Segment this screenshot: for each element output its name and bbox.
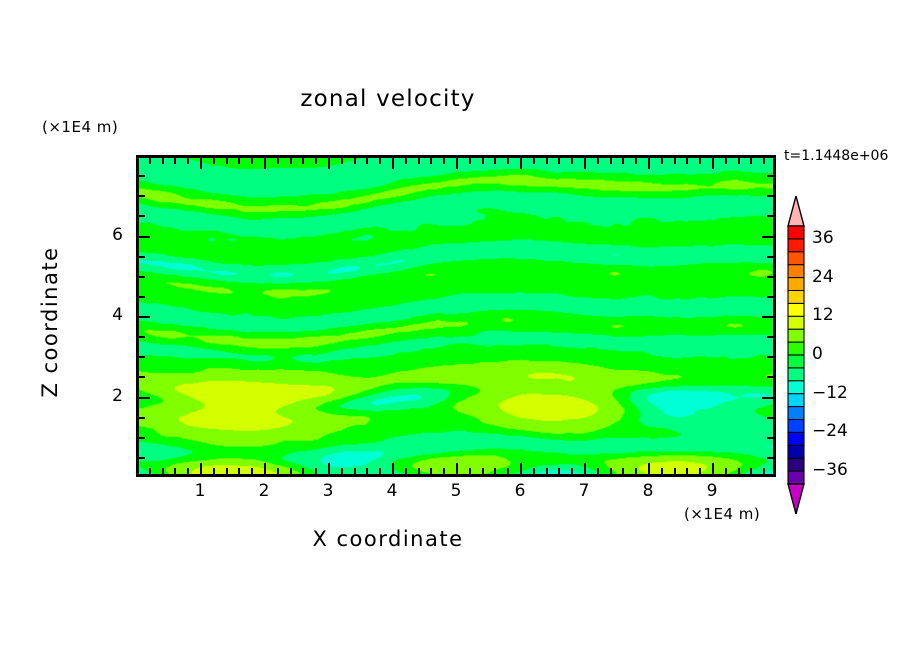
x-axis-minor-tick (379, 468, 381, 474)
colorbar-tick-label: 0 (812, 344, 823, 364)
x-axis-minor-tick (763, 158, 765, 164)
x-axis-minor-tick (149, 468, 151, 474)
x-axis-minor-tick (699, 468, 701, 474)
x-axis-major-tick (648, 158, 650, 169)
y-axis-major-tick (139, 397, 150, 399)
x-axis-minor-tick (763, 468, 765, 474)
x-axis-minor-tick (571, 158, 573, 164)
x-axis-minor-tick (405, 468, 407, 474)
colorbar-swatch (788, 316, 804, 329)
colorbar-swatch (788, 420, 804, 433)
y-axis-minor-tick (139, 356, 145, 358)
x-axis-minor-tick (238, 468, 240, 474)
x-axis-major-tick (456, 158, 458, 169)
colorbar-swatch (788, 265, 804, 278)
y-axis-major-tick (762, 397, 773, 399)
x-axis-minor-tick (226, 158, 228, 164)
contour-field (139, 158, 773, 474)
x-axis-minor-tick (482, 468, 484, 474)
colorbar-swatch (788, 432, 804, 445)
y-axis-major-tick (139, 236, 150, 238)
colorbar-tick-label: 12 (812, 305, 834, 325)
x-axis-minor-tick (725, 158, 727, 164)
x-axis-minor-tick (507, 158, 509, 164)
x-axis-minor-tick (290, 468, 292, 474)
x-axis-minor-tick (341, 158, 343, 164)
x-axis-major-tick (264, 158, 266, 169)
colorbar-swatch (788, 226, 804, 239)
x-axis-minor-tick (635, 158, 637, 164)
colorbar-swatch (788, 342, 804, 355)
y-axis-minor-tick (767, 356, 773, 358)
y-axis-title: Z coordinate (38, 212, 62, 432)
time-annotation: t=1.1448e+06 (784, 148, 888, 164)
x-axis-minor-tick (213, 158, 215, 164)
x-axis-minor-tick (213, 468, 215, 474)
x-axis-minor-tick (622, 468, 624, 474)
x-axis-tick-label: 1 (185, 481, 215, 501)
x-axis-minor-tick (738, 158, 740, 164)
x-axis-minor-tick (546, 158, 548, 164)
y-axis-minor-tick (139, 336, 145, 338)
y-axis-minor-tick (767, 336, 773, 338)
x-axis-minor-tick (610, 158, 612, 164)
x-axis-minor-tick (533, 468, 535, 474)
x-axis-minor-tick (238, 158, 240, 164)
colorbar-tick-label: −24 (812, 421, 848, 441)
x-axis-minor-tick (558, 158, 560, 164)
x-axis-minor-tick (610, 468, 612, 474)
x-axis-minor-tick (725, 468, 727, 474)
x-axis-minor-tick (469, 158, 471, 164)
y-axis-minor-tick (767, 175, 773, 177)
colorbar-swatch (788, 291, 804, 304)
x-axis-minor-tick (354, 158, 356, 164)
x-axis-minor-tick (674, 158, 676, 164)
x-axis-minor-tick (251, 468, 253, 474)
x-axis-major-tick (392, 158, 394, 169)
x-axis-tick-label: 9 (697, 481, 727, 501)
x-axis-minor-tick (674, 468, 676, 474)
x-axis-minor-tick (686, 468, 688, 474)
y-axis-minor-tick (767, 457, 773, 459)
x-axis-minor-tick (277, 468, 279, 474)
x-axis-minor-tick (546, 468, 548, 474)
x-axis-minor-tick (533, 158, 535, 164)
y-axis-minor-tick (139, 457, 145, 459)
x-axis-major-tick (584, 463, 586, 474)
y-axis-tick-label: 6 (93, 225, 123, 245)
x-axis-minor-tick (226, 468, 228, 474)
x-axis-minor-tick (187, 468, 189, 474)
y-axis-minor-tick (139, 215, 145, 217)
x-axis-tick-label: 5 (441, 481, 471, 501)
x-axis-major-tick (200, 463, 202, 474)
x-axis-minor-tick (430, 468, 432, 474)
y-axis-minor-tick (767, 215, 773, 217)
x-axis-minor-tick (290, 158, 292, 164)
x-axis-minor-tick (302, 158, 304, 164)
y-axis-minor-tick (767, 256, 773, 258)
x-axis-minor-tick (597, 158, 599, 164)
colorbar-swatch (788, 458, 804, 471)
y-axis-minor-tick (139, 256, 145, 258)
x-axis-major-tick (520, 463, 522, 474)
colorbar-under-arrow (788, 484, 804, 514)
y-axis-tick-label: 2 (93, 386, 123, 406)
x-axis-major-tick (584, 158, 586, 169)
colorbar-swatch (788, 471, 804, 484)
x-axis-tick-label: 7 (569, 481, 599, 501)
x-axis-minor-tick (174, 158, 176, 164)
colorbar-tick-label: 36 (812, 228, 834, 248)
x-axis-minor-tick (443, 158, 445, 164)
x-axis-major-tick (712, 463, 714, 474)
x-axis-minor-tick (750, 468, 752, 474)
x-axis-minor-tick (418, 468, 420, 474)
y-axis-minor-tick (767, 437, 773, 439)
x-axis-major-tick (264, 463, 266, 474)
y-axis-minor-tick (139, 417, 145, 419)
x-axis-minor-tick (750, 158, 752, 164)
x-axis-minor-tick (366, 468, 368, 474)
x-axis-minor-tick (354, 468, 356, 474)
x-axis-minor-tick (149, 158, 151, 164)
y-axis-minor-tick (767, 276, 773, 278)
x-axis-minor-tick (699, 158, 701, 164)
y-axis-minor-tick (139, 195, 145, 197)
x-axis-major-tick (328, 463, 330, 474)
x-axis-tick-label: 2 (249, 481, 279, 501)
x-axis-minor-tick (366, 158, 368, 164)
colorbar-swatch (788, 368, 804, 381)
colorbar-tick-label: −12 (812, 383, 848, 403)
colorbar-swatch (788, 239, 804, 252)
y-axis-minor-tick (139, 376, 145, 378)
y-axis-minor-tick (139, 276, 145, 278)
x-axis-minor-tick (418, 158, 420, 164)
colorbar-swatch (788, 303, 804, 316)
colorbar-over-arrow (788, 196, 804, 226)
x-axis-major-tick (456, 463, 458, 474)
plot-area (136, 155, 776, 477)
x-axis-minor-tick (430, 158, 432, 164)
colorbar-swatch (788, 355, 804, 368)
x-axis-minor-tick (635, 468, 637, 474)
y-axis-tick-label: 4 (93, 305, 123, 325)
x-axis-minor-tick (597, 468, 599, 474)
colorbar-tick-label: 24 (812, 267, 834, 287)
colorbar-swatches (781, 196, 811, 514)
x-axis-tick-label: 4 (377, 481, 407, 501)
x-axis-minor-tick (494, 468, 496, 474)
x-axis-title: X coordinate (0, 527, 776, 551)
chart-canvas: zonal velocity (×1E4 m) (×1E4 m) X coord… (0, 0, 904, 654)
x-axis-major-tick (648, 463, 650, 474)
colorbar-swatch (788, 445, 804, 458)
y-axis-minor-tick (767, 417, 773, 419)
y-axis-minor-tick (767, 376, 773, 378)
x-axis-minor-tick (315, 468, 317, 474)
x-axis-minor-tick (558, 468, 560, 474)
x-axis-minor-tick (187, 158, 189, 164)
x-axis-major-tick (520, 158, 522, 169)
x-axis-minor-tick (571, 468, 573, 474)
x-axis-minor-tick (661, 468, 663, 474)
x-axis-major-tick (392, 463, 394, 474)
x-axis-tick-label: 8 (633, 481, 663, 501)
colorbar-swatch (788, 381, 804, 394)
x-axis-major-tick (328, 158, 330, 169)
x-axis-minor-tick (251, 158, 253, 164)
y-axis-minor-tick (767, 195, 773, 197)
colorbar-swatch (788, 278, 804, 291)
x-axis-minor-tick (162, 468, 164, 474)
y-axis-minor-tick (139, 175, 145, 177)
colorbar-swatch (788, 407, 804, 420)
x-axis-minor-tick (443, 468, 445, 474)
x-axis-minor-tick (482, 158, 484, 164)
y-axis-minor-tick (767, 296, 773, 298)
x-axis-minor-tick (494, 158, 496, 164)
x-axis-minor-tick (174, 468, 176, 474)
x-axis-minor-tick (738, 468, 740, 474)
y-axis-minor-tick (139, 437, 145, 439)
x-axis-unit-label: (×1E4 m) (684, 505, 760, 523)
colorbar-swatch (788, 394, 804, 407)
y-axis-major-tick (762, 316, 773, 318)
x-axis-major-tick (712, 158, 714, 169)
x-axis-minor-tick (469, 468, 471, 474)
x-axis-minor-tick (302, 468, 304, 474)
page-title: zonal velocity (0, 86, 776, 112)
x-axis-minor-tick (507, 468, 509, 474)
x-axis-minor-tick (277, 158, 279, 164)
x-axis-minor-tick (341, 468, 343, 474)
x-axis-minor-tick (379, 158, 381, 164)
x-axis-minor-tick (162, 158, 164, 164)
y-axis-unit-label: (×1E4 m) (42, 118, 118, 136)
colorbar-swatch (788, 329, 804, 342)
x-axis-minor-tick (686, 158, 688, 164)
x-axis-minor-tick (622, 158, 624, 164)
x-axis-minor-tick (315, 158, 317, 164)
x-axis-minor-tick (661, 158, 663, 164)
y-axis-major-tick (762, 236, 773, 238)
colorbar-swatch (788, 252, 804, 265)
x-axis-tick-label: 6 (505, 481, 535, 501)
colorbar (781, 196, 811, 514)
x-axis-minor-tick (405, 158, 407, 164)
x-axis-major-tick (200, 158, 202, 169)
colorbar-tick-label: −36 (812, 460, 848, 480)
y-axis-minor-tick (139, 296, 145, 298)
y-axis-major-tick (139, 316, 150, 318)
x-axis-tick-label: 3 (313, 481, 343, 501)
